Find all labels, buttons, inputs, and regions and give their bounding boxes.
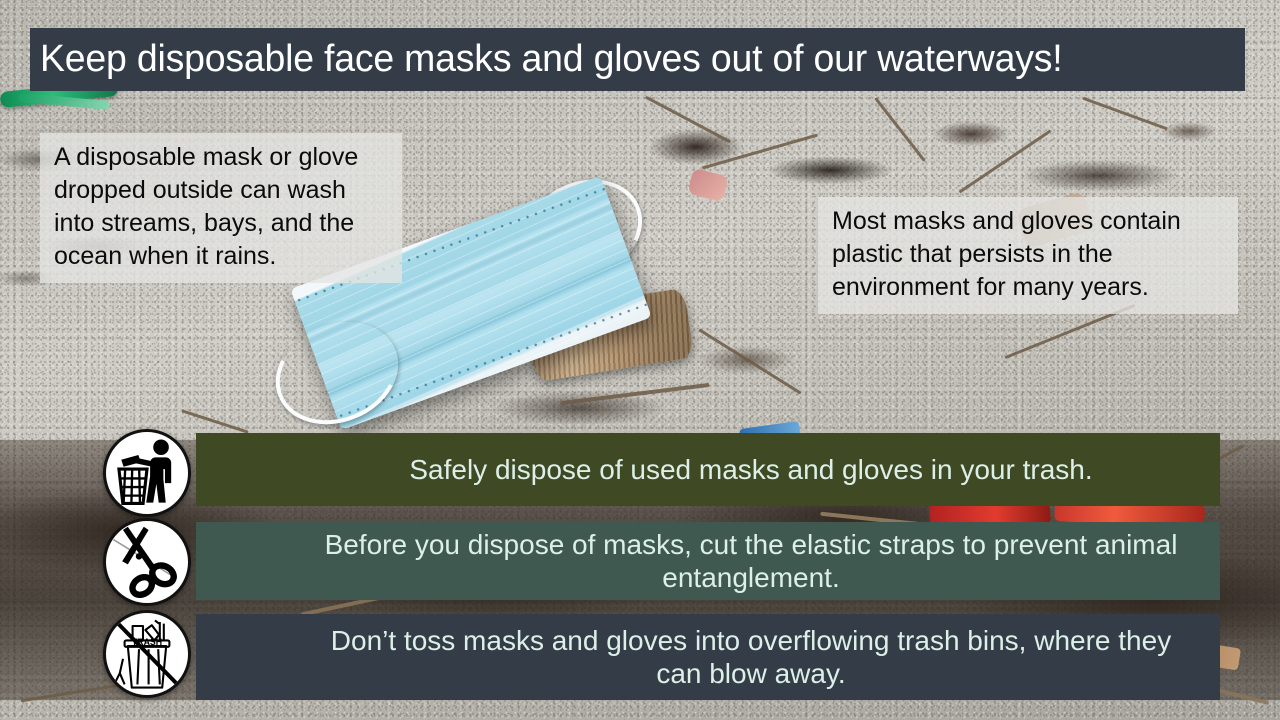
action-banner-dispose: Safely dispose of used masks and gloves …	[196, 433, 1220, 506]
fact-box-right: Most masks and gloves contain plastic th…	[818, 197, 1238, 314]
action-text-no-overflow: Don’t toss masks and gloves into overflo…	[316, 624, 1186, 690]
page-title: Keep disposable face masks and gloves ou…	[40, 40, 1062, 80]
action-banner-no-overflow: Don’t toss masks and gloves into overflo…	[196, 614, 1220, 700]
litter-bin-person-icon	[103, 429, 191, 517]
poster-canvas: Keep disposable face masks and gloves ou…	[0, 0, 1280, 720]
beach-photo-background	[0, 0, 1280, 720]
action-text-dispose: Safely dispose of used masks and gloves …	[316, 453, 1186, 486]
scissors-icon	[103, 518, 191, 606]
fact-text-right: Most masks and gloves contain plastic th…	[832, 207, 1181, 301]
action-banner-cut-straps: Before you dispose of masks, cut the ela…	[196, 522, 1220, 600]
no-overflowing-trash-can-icon: TRASH	[103, 610, 191, 698]
action-text-cut-straps: Before you dispose of masks, cut the ela…	[316, 528, 1186, 594]
fact-text-left: A disposable mask or glove dropped outsi…	[54, 143, 358, 270]
poster-title-bar: Keep disposable face masks and gloves ou…	[30, 28, 1245, 91]
fact-box-left: A disposable mask or glove dropped outsi…	[40, 133, 402, 283]
